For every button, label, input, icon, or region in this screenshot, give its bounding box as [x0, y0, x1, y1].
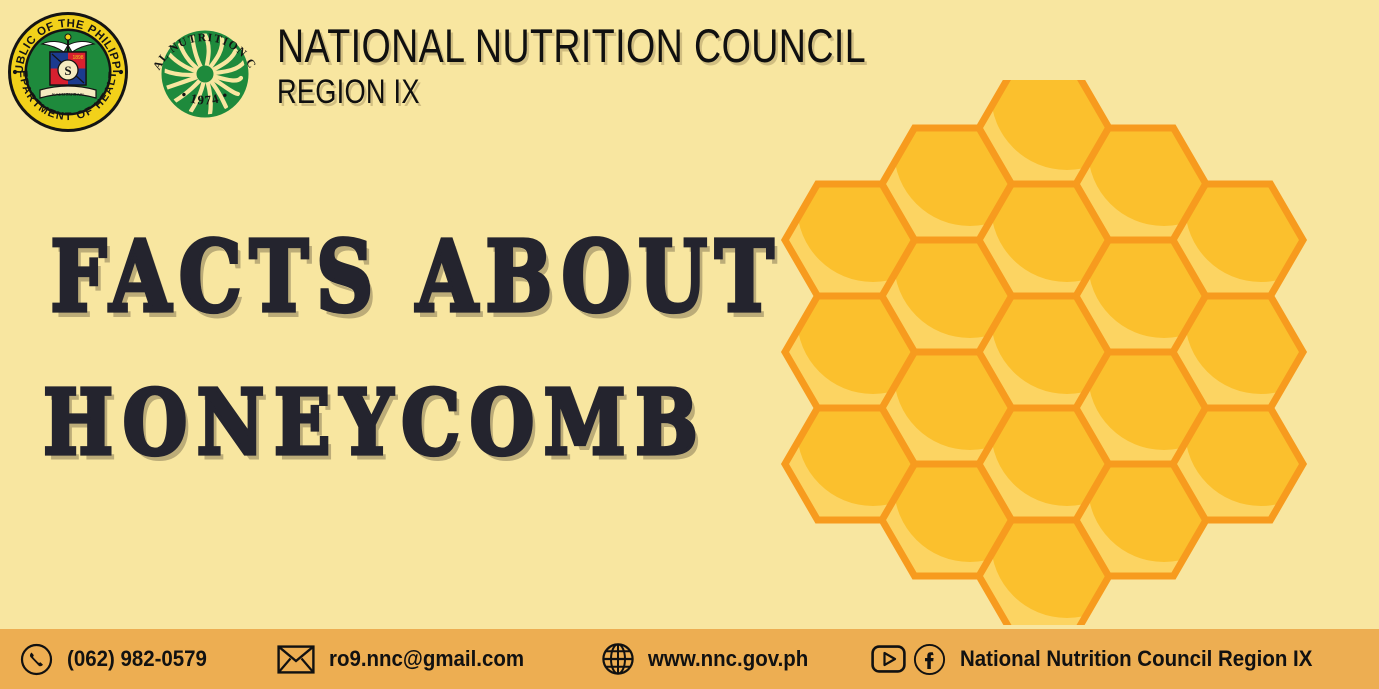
contact-footer-bar: (062) 982-0579 ro9.nnc@gmail.com — [0, 629, 1379, 689]
envelope-icon — [277, 645, 315, 674]
phone-number: (062) 982-0579 — [67, 646, 207, 672]
nnc-seal-icon: NATIONAL NUTRITION COUNCIL • 1974 • — [142, 8, 268, 136]
svg-text:S: S — [64, 63, 71, 78]
poster-canvas: REPUBLIC OF THE PHILIPPINES DEPARTMENT O… — [0, 0, 1379, 689]
footer-phone-item[interactable]: (062) 982-0579 — [20, 643, 217, 676]
doh-seal-icon: REPUBLIC OF THE PHILIPPINES DEPARTMENT O… — [6, 10, 130, 134]
svg-text:KALUSUGAN: KALUSUGAN — [52, 92, 84, 97]
title-line-2: HONEYCOMB — [43, 378, 677, 467]
honeycomb-illustration — [765, 80, 1310, 625]
social-handle: National Nutrition Council Region IX — [960, 646, 1312, 672]
svg-text:1898: 1898 — [72, 55, 83, 61]
poster-title: FACTS ABOUT HONEYCOMB — [0, 228, 720, 462]
footer-social-item[interactable]: National Nutrition Council Region IX — [871, 643, 1339, 676]
footer-website-item[interactable]: www.nnc.gov.ph — [601, 642, 820, 676]
org-name: NATIONAL NUTRITION COUNCIL — [277, 22, 866, 69]
email-address: ro9.nnc@gmail.com — [329, 646, 524, 672]
facebook-icon[interactable] — [913, 643, 946, 676]
phone-icon — [20, 643, 53, 676]
youtube-icon[interactable] — [871, 645, 906, 673]
title-line-1: FACTS ABOUT — [50, 228, 669, 326]
footer-email-item[interactable]: ro9.nnc@gmail.com — [277, 645, 539, 674]
website-url: www.nnc.gov.ph — [648, 646, 808, 672]
globe-icon — [601, 642, 635, 676]
